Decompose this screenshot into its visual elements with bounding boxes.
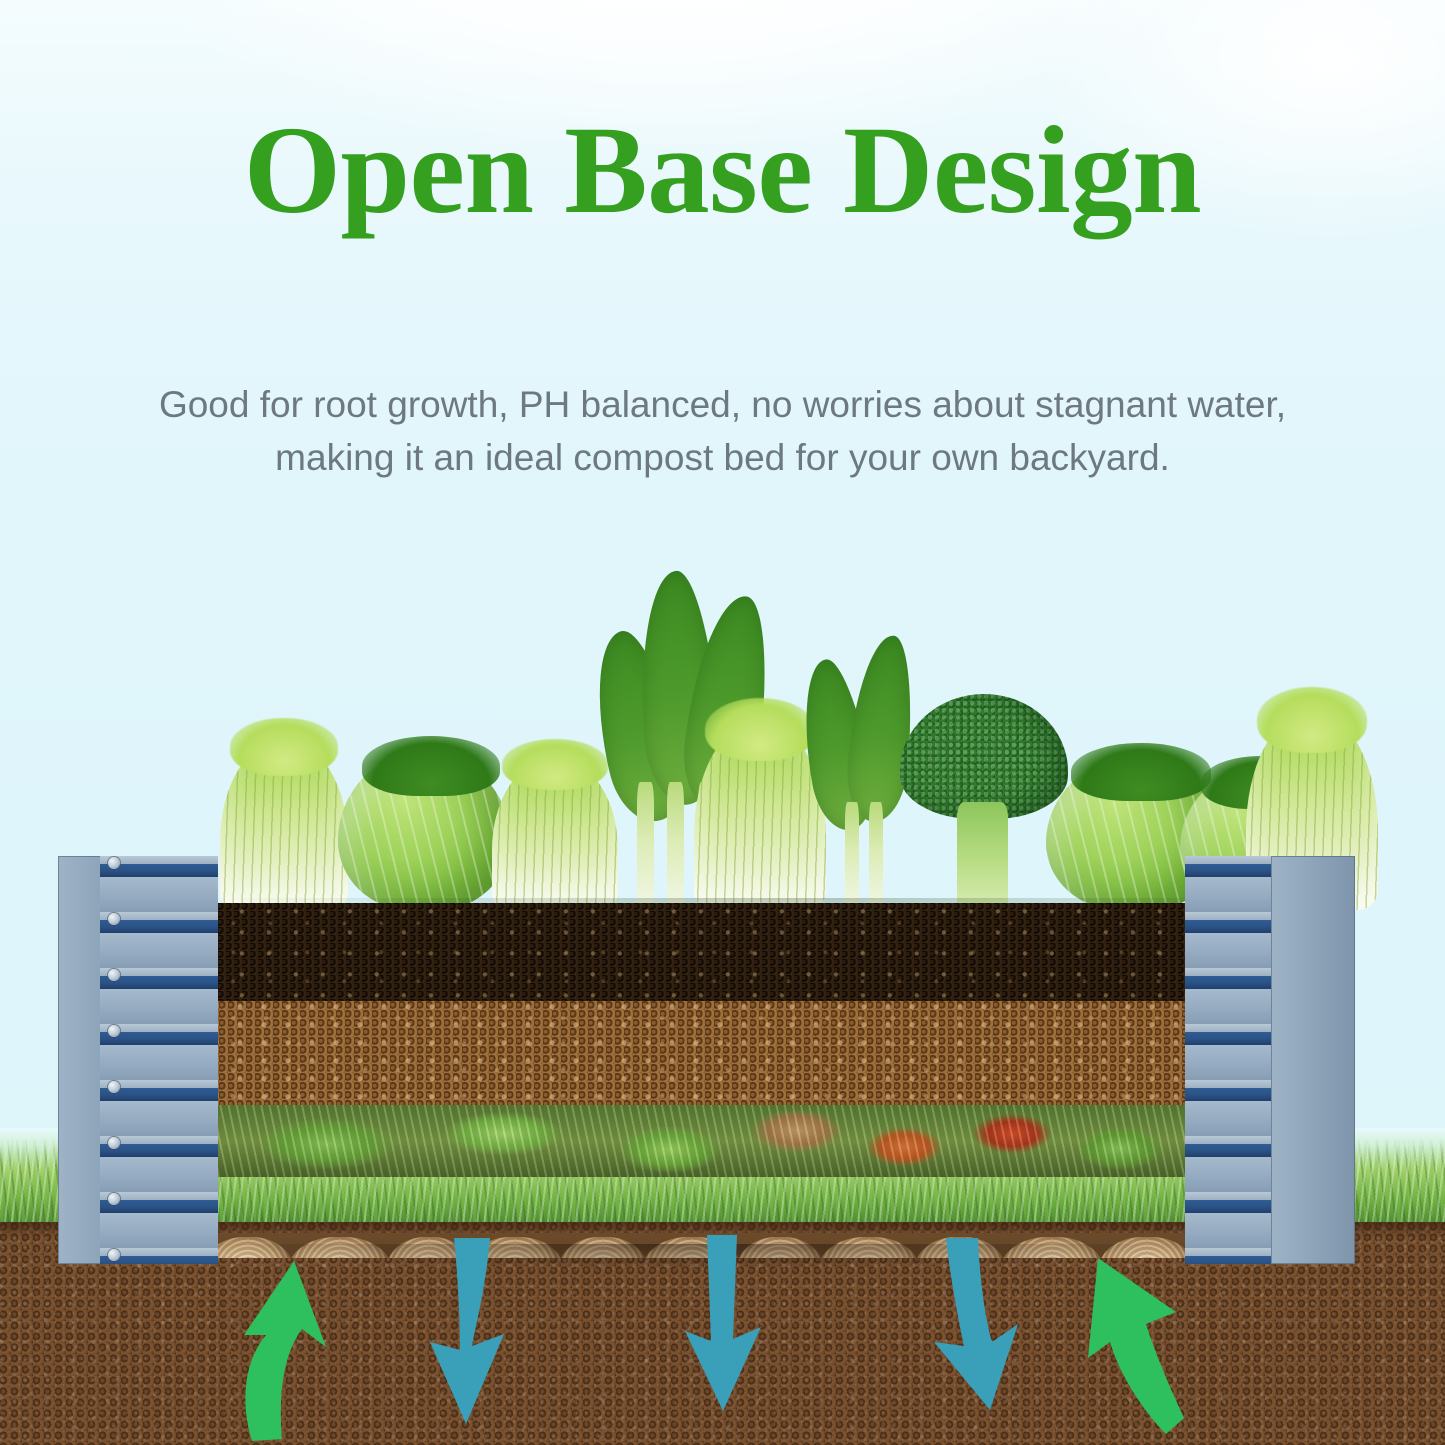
post-slat <box>100 1024 218 1080</box>
drainage-down-arrow-1 <box>420 1238 530 1428</box>
post-slat <box>100 856 218 912</box>
drainage-down-arrow-3 <box>920 1238 1030 1418</box>
drainage-down-arrow-2 <box>675 1235 771 1415</box>
bed-cross-section <box>210 903 1188 1258</box>
right-corner-post <box>1185 856 1355 1264</box>
garden-bed-scene <box>0 0 1445 1445</box>
nutrient-up-arrow-left <box>222 1243 352 1443</box>
napa-cabbage <box>220 742 348 910</box>
post-slat <box>100 1248 218 1264</box>
post-slat <box>100 1080 218 1136</box>
post-slat <box>100 968 218 1024</box>
post-side-face <box>1271 856 1355 1264</box>
post-slat-stack <box>100 856 218 1264</box>
green-cabbage <box>338 752 510 910</box>
nutrient-up-arrow-right <box>1068 1238 1188 1438</box>
left-corner-post <box>58 856 218 1264</box>
compost-layer <box>210 1001 1188 1105</box>
kitchen-scraps-layer <box>210 1105 1188 1177</box>
topsoil-layer <box>210 903 1188 1001</box>
broccoli <box>900 694 1068 910</box>
post-slat <box>100 1192 218 1248</box>
post-slat <box>100 912 218 968</box>
post-slat <box>100 1136 218 1192</box>
open-base-design-poster: Open Base Design Good for root growth, P… <box>0 0 1445 1445</box>
